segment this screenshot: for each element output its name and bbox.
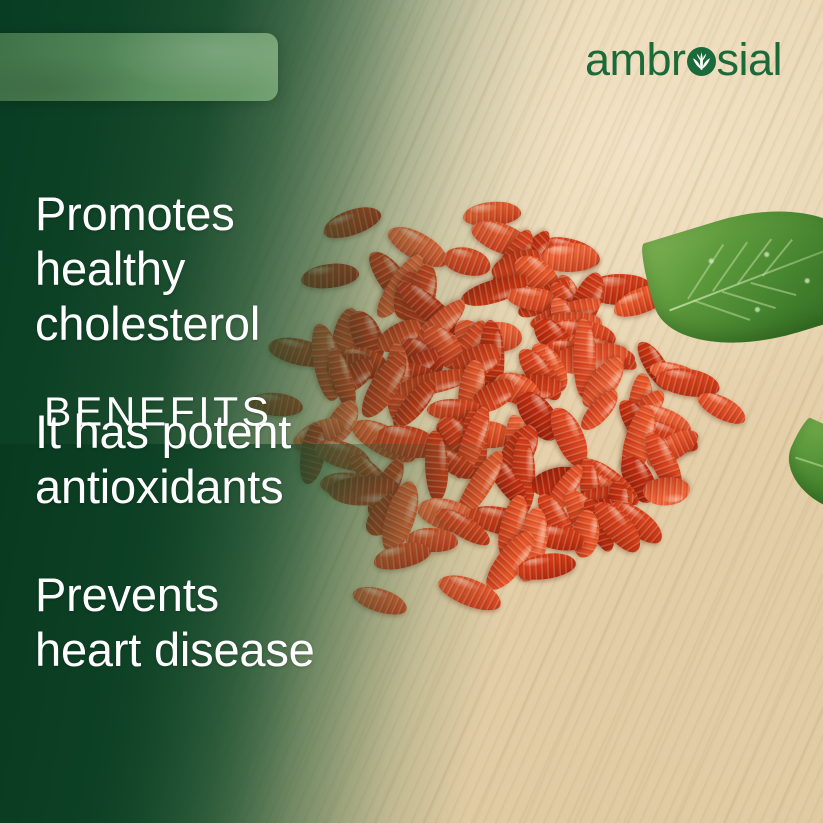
banner-sheen <box>0 33 278 101</box>
benefit-item-1: Promotes healthy cholesterol <box>35 186 455 351</box>
leaf-circle-icon <box>687 47 716 76</box>
benefits-list: Promotes healthy cholesterol It has pote… <box>35 186 455 677</box>
brand-name-before: ambr <box>585 37 686 82</box>
brand-logo-text: ambr sial <box>585 37 782 82</box>
brand-logo: ambr sial <box>585 36 782 82</box>
brand-name-after: sial <box>717 37 783 82</box>
benefit-item-2: It has potent antioxidants <box>35 404 455 514</box>
benefits-promo-card: BENEFITS ambr sial Promotes healthy chol… <box>0 0 823 823</box>
benefit-item-3: Prevents heart disease <box>35 567 455 677</box>
benefits-banner <box>0 33 278 101</box>
